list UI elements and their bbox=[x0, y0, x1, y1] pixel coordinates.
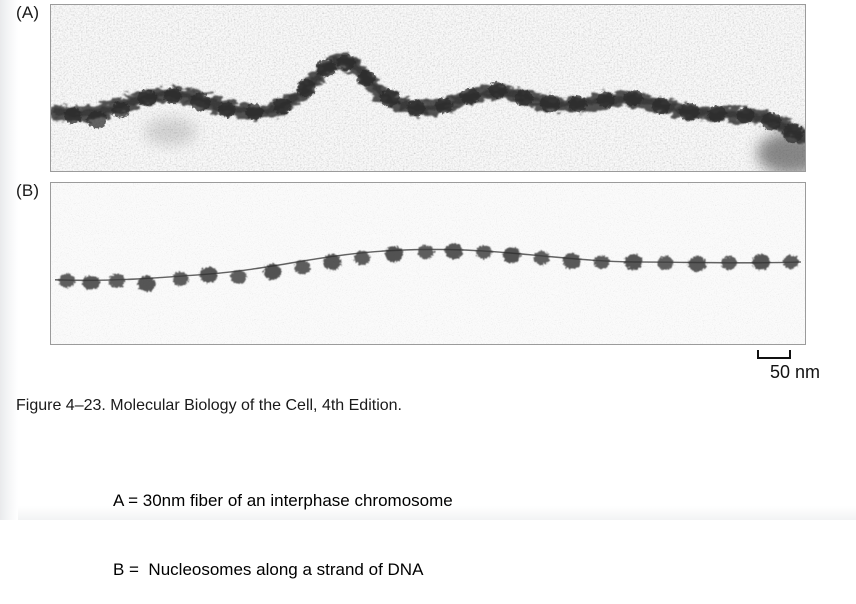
scale-bar: 50 nm bbox=[745, 348, 845, 386]
scale-bar-label: 50 nm bbox=[745, 362, 845, 382]
figure-legend: A = 30nm fiber of an interphase chromoso… bbox=[113, 443, 453, 604]
panel-b-label: (B) bbox=[16, 182, 39, 199]
legend-line-b: B = Nucleosomes along a strand of DNA bbox=[113, 558, 453, 581]
panel-b-image bbox=[51, 183, 805, 344]
figure-caption: Figure 4–23. Molecular Biology of the Ce… bbox=[16, 396, 402, 416]
legend-line-a: A = 30nm fiber of an interphase chromoso… bbox=[113, 489, 453, 512]
panel-b-micrograph bbox=[50, 182, 806, 345]
panel-a-image bbox=[51, 5, 805, 171]
panel-a-label: (A) bbox=[16, 4, 39, 21]
panel-a-micrograph bbox=[50, 4, 806, 172]
scale-bar-mark bbox=[757, 350, 791, 359]
page-left-edge-shading bbox=[0, 0, 18, 520]
